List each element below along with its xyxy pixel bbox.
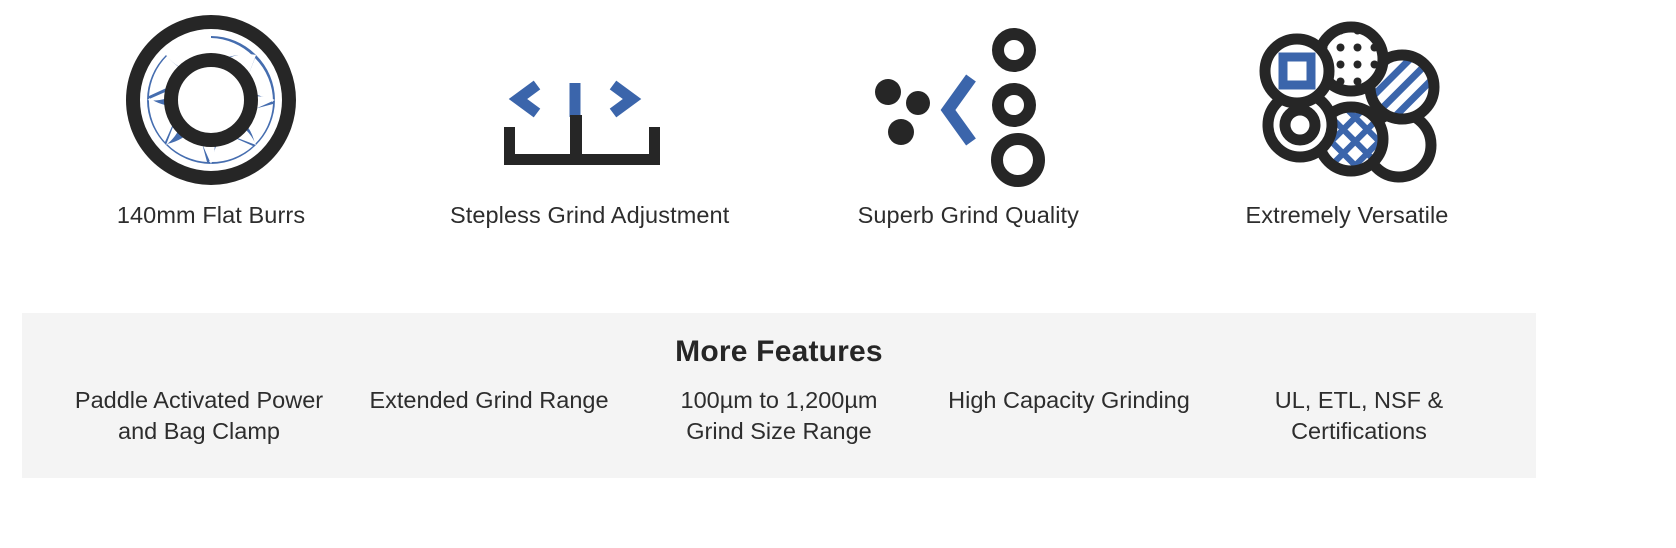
feature-row: 140mm Flat Burrs <box>22 0 1536 290</box>
more-feature-item: UL, ETL, NSF & Certifications <box>1234 385 1484 447</box>
more-features-title: More Features <box>22 313 1536 369</box>
feature-item-grind-quality: Superb Grind Quality <box>779 0 1157 230</box>
feature-item-versatile: Extremely Versatile <box>1158 0 1536 230</box>
burr-ring-icon-svg <box>111 5 311 195</box>
feature-label: Extremely Versatile <box>1245 200 1448 230</box>
feature-label: Stepless Grind Adjustment <box>450 200 729 230</box>
more-feature-item: Extended Grind Range <box>364 385 614 416</box>
more-features-grid: Paddle Activated Power and Bag Clamp Ext… <box>22 369 1536 447</box>
grind-particles-icon-svg <box>868 5 1068 195</box>
circle-cluster-icon <box>1247 0 1447 200</box>
feature-highlights-page: 140mm Flat Burrs <box>0 0 1676 548</box>
more-feature-item: 100µm to 1,200µm Grind Size Range <box>654 385 904 447</box>
stepless-slider-icon-svg <box>490 5 690 195</box>
more-feature-item: Paddle Activated Power and Bag Clamp <box>74 385 324 447</box>
burr-ring-icon <box>111 0 311 200</box>
stepless-slider-icon <box>490 0 690 200</box>
circle-cluster-icon-svg <box>1247 5 1447 195</box>
feature-item-stepless-adjustment: Stepless Grind Adjustment <box>401 0 779 230</box>
grind-particles-icon <box>868 0 1068 200</box>
feature-label: Superb Grind Quality <box>858 200 1079 230</box>
more-features-panel: More Features Paddle Activated Power and… <box>22 313 1536 478</box>
feature-item-flat-burrs: 140mm Flat Burrs <box>22 0 400 230</box>
feature-label: 140mm Flat Burrs <box>117 200 305 230</box>
more-feature-item: High Capacity Grinding <box>944 385 1194 416</box>
